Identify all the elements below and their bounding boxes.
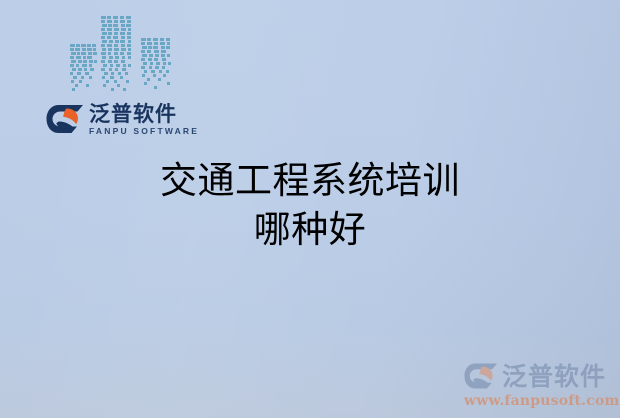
- watermark-url: www.fanpusoft.com: [464, 393, 612, 409]
- brand-wordmark: 泛普软件 FANPU SOFTWARE: [89, 103, 199, 136]
- page-title-line-1: 交通工程系统培训: [0, 157, 620, 206]
- page-title-line-2: 哪种好: [0, 206, 620, 255]
- fanpu-logo-mark-icon: [46, 104, 84, 134]
- slide-canvas: 泛普软件 FANPU SOFTWARE 交通工程系统培训 哪种好 泛普软件 ww…: [0, 0, 620, 418]
- brand-name-cn: 泛普软件: [89, 103, 199, 125]
- watermark: 泛普软件 www.fanpusoft.com: [464, 360, 612, 412]
- watermark-logo: 泛普软件: [464, 360, 612, 392]
- watermark-name-cn: 泛普软件: [502, 364, 606, 389]
- brand-logo: 泛普软件 FANPU SOFTWARE: [46, 99, 186, 139]
- pixel-cityscape-icon: [68, 6, 180, 96]
- fanpu-logo-mark-icon: [464, 362, 498, 390]
- page-title: 交通工程系统培训 哪种好: [0, 157, 620, 255]
- brand-name-en: FANPU SOFTWARE: [89, 127, 199, 136]
